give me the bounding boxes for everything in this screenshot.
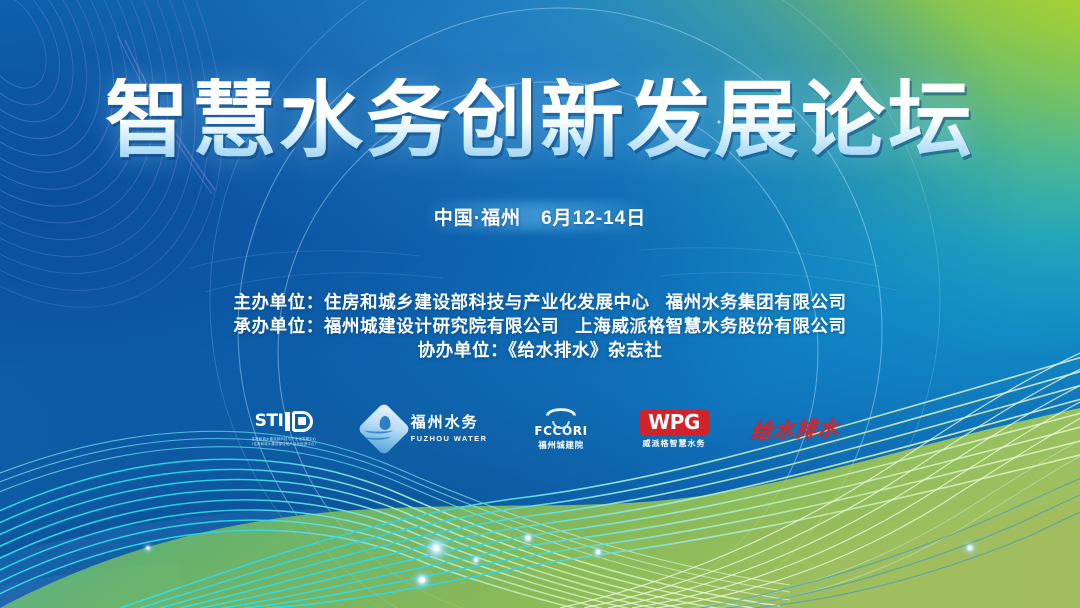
- organizer-row-coorganizer: 承办单位：福州城建设计研究院有限公司上海威派格智慧水务股份有限公司: [0, 314, 1080, 338]
- stid-wordmark: STI: [255, 413, 284, 430]
- wpg-wordmark: WPG: [648, 412, 700, 432]
- wpg-cn: 威派格智慧水务: [643, 440, 706, 448]
- organizer-host-b: 福州水务集团有限公司: [666, 292, 847, 312]
- wpg-badge: WPG: [639, 410, 709, 435]
- page-title: 智慧水务创新发展论坛: [0, 78, 1080, 162]
- stid-bar-icon: [285, 412, 290, 431]
- logo-stid: STI 住房和城乡建设部科技与产业化发展中心 （住房和城乡建设部住宅产业化促进中…: [237, 398, 331, 460]
- event-dates: 6月12-14日: [541, 203, 646, 230]
- organizer-supporter-a: 《给水排水》杂志社: [508, 340, 662, 360]
- organizer-row-supporter: 协办单位：《给水排水》杂志社: [0, 338, 1080, 362]
- organizer-label-coorganizer: 承办单位：: [233, 316, 324, 336]
- organizer-host-a: 住房和城乡建设部科技与产业化发展中心: [324, 292, 650, 312]
- water-supply-drainage-wordmark: 给水排水: [750, 417, 840, 441]
- stid-caption: 住房和城乡建设部科技与产业化发展中心 （住房和城乡建设部住宅产业化促进中心）: [250, 437, 318, 447]
- fccori-cn: 福州城建院: [538, 441, 584, 450]
- stid-caption-line2: （住房和城乡建设部住宅产业化促进中心）: [250, 442, 318, 447]
- organizers-block: 主办单位：住房和城乡建设部科技与产业化发展中心福州水务集团有限公司 承办单位：福…: [0, 290, 1080, 362]
- organizer-row-host: 主办单位：住房和城乡建设部科技与产业化发展中心福州水务集团有限公司: [0, 290, 1080, 314]
- fuzhou-water-cn: 福州水务: [411, 415, 479, 432]
- water-drop-diamond-icon: [357, 402, 411, 456]
- sponsor-logos-row: STI 住房和城乡建设部科技与产业化发展中心 （住房和城乡建设部住宅产业化促进中…: [0, 398, 1080, 460]
- logo-wpg: WPG 威派格智慧水务: [631, 398, 717, 460]
- fuzhou-water-en: FUZHOU WATER: [411, 434, 488, 443]
- fuzhou-water-text: 福州水务 FUZHOU WATER: [411, 415, 488, 444]
- organizer-coorganizer-a: 福州城建设计研究院有限公司: [324, 316, 559, 336]
- event-location: 中国·福州: [434, 203, 521, 230]
- poster-content: 智慧水务创新发展论坛 中国·福州 6月12-14日 主办单位：住房和城乡建设部科…: [0, 0, 1080, 608]
- conference-poster: 智慧水务创新发展论坛 中国·福州 6月12-14日 主办单位：住房和城乡建设部科…: [0, 0, 1080, 608]
- logo-fccori: FCCORI 福州城建院: [521, 398, 601, 460]
- wave-line-icon-2: [362, 433, 390, 440]
- organizer-label-host: 主办单位：: [233, 292, 324, 312]
- stid-d-icon: [292, 411, 313, 432]
- fccori-swoosh-icon: [546, 408, 576, 423]
- logo-fuzhou-water: 福州水务 FUZHOU WATER: [361, 398, 491, 460]
- logo-water-supply-drainage: 给水排水: [747, 398, 843, 460]
- stid-mark-icon: STI: [255, 411, 314, 432]
- organizer-coorganizer-b: 上海威派格智慧水务股份有限公司: [575, 316, 847, 336]
- fccori-ring-top-icon: [546, 408, 576, 423]
- subtitle-row: 中国·福州 6月12-14日: [0, 203, 1080, 230]
- organizer-label-supporter: 协办单位：: [418, 340, 509, 360]
